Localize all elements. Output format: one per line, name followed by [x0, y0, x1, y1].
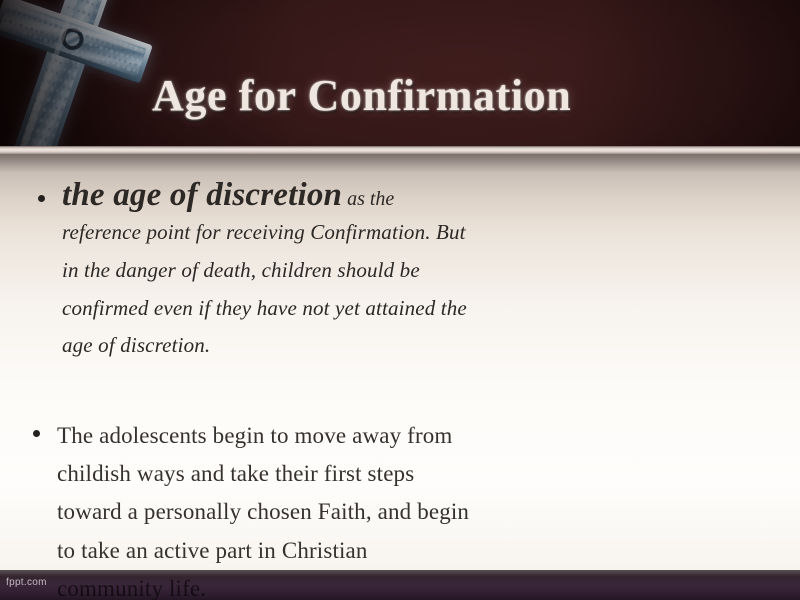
watermark: fppt.com	[6, 577, 47, 588]
bullet-line: toward a personally chosen Faith, and be…	[57, 493, 653, 531]
bullet-text: The adolescents begin to move away from …	[57, 417, 653, 600]
bullet-line: childish ways and take their first steps	[57, 455, 653, 493]
bullet-line: confirmed even if they have not yet atta…	[62, 290, 638, 328]
bullet-follow-phrase: as the	[342, 188, 394, 210]
bullet-line: reference point for receiving Confirmati…	[62, 214, 638, 252]
bullet-line: in the danger of death, children should …	[62, 252, 638, 290]
list-item: The adolescents begin to move away from …	[33, 417, 653, 600]
presentation-slide: Age for Confirmation the age of discreti…	[0, 0, 800, 600]
slide-header: Age for Confirmation	[0, 0, 800, 147]
list-item: the age of discretion as the reference p…	[38, 177, 638, 365]
bullet-dot-icon	[38, 195, 45, 202]
slide-content: the age of discretion as the reference p…	[0, 155, 800, 600]
header-separator	[0, 146, 800, 155]
bullet-lead-phrase: the age of discretion	[62, 177, 342, 213]
bullet-line: The adolescents begin to move away from	[57, 417, 653, 455]
page-title: Age for Confirmation	[152, 73, 571, 119]
bullet-text: the age of discretion as the reference p…	[62, 177, 638, 365]
bullet-dot-icon	[33, 430, 40, 437]
bullet-line: community life.	[57, 570, 653, 600]
bullet-line: age of discretion.	[62, 327, 638, 365]
bullet-line: to take an active part in Christian	[57, 532, 653, 570]
